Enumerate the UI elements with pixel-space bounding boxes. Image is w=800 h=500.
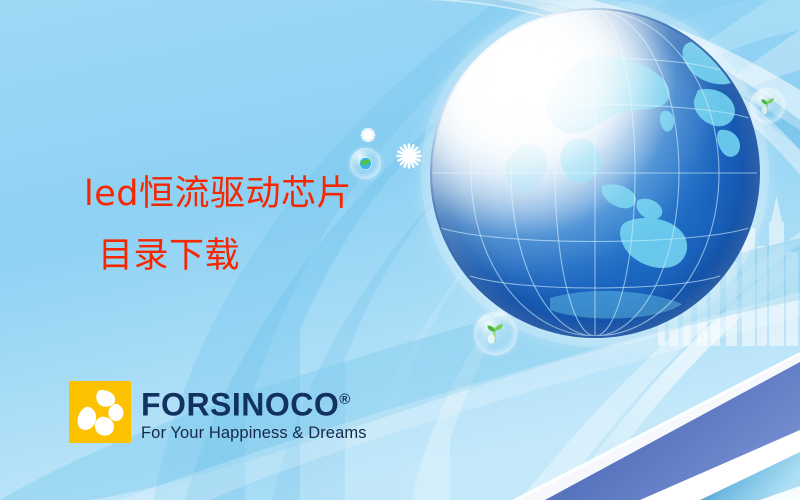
logo-wordmark: FORSINOCO® [141,383,367,422]
mini-globe-icon [356,154,375,173]
globe-rim-glow [421,0,769,347]
headline-text: led恒流驱动芯片 目录下载 [84,163,352,287]
registered-trademark-icon: ® [339,391,350,408]
logo-tagline: For Your Happiness & Dreams [141,423,367,443]
logo-wordmark-text: FORSINOCO [141,387,339,423]
bubble-sprout-icon [474,312,517,355]
bubble-edge-right [750,88,785,123]
headline-line-2: 目录下载 [84,225,352,287]
earth-globe [430,8,760,338]
pinwheel-petals-icon [69,381,131,443]
company-logo: FORSINOCO® For Your Happiness & Dreams [69,381,367,443]
bubble-globe-icon [350,148,381,179]
forsinoco-pinwheel-mark [69,381,131,443]
sprout-leaf-icon [481,319,509,347]
sprout-leaf-icon-right [756,94,779,117]
logo-text-block: FORSINOCO® For Your Happiness & Dreams [141,383,367,443]
headline-line-1: led恒流驱动芯片 [84,174,352,214]
promo-banner: led恒流驱动芯片 目录下载 FORSINOCO® For Your Happi… [0,0,800,500]
